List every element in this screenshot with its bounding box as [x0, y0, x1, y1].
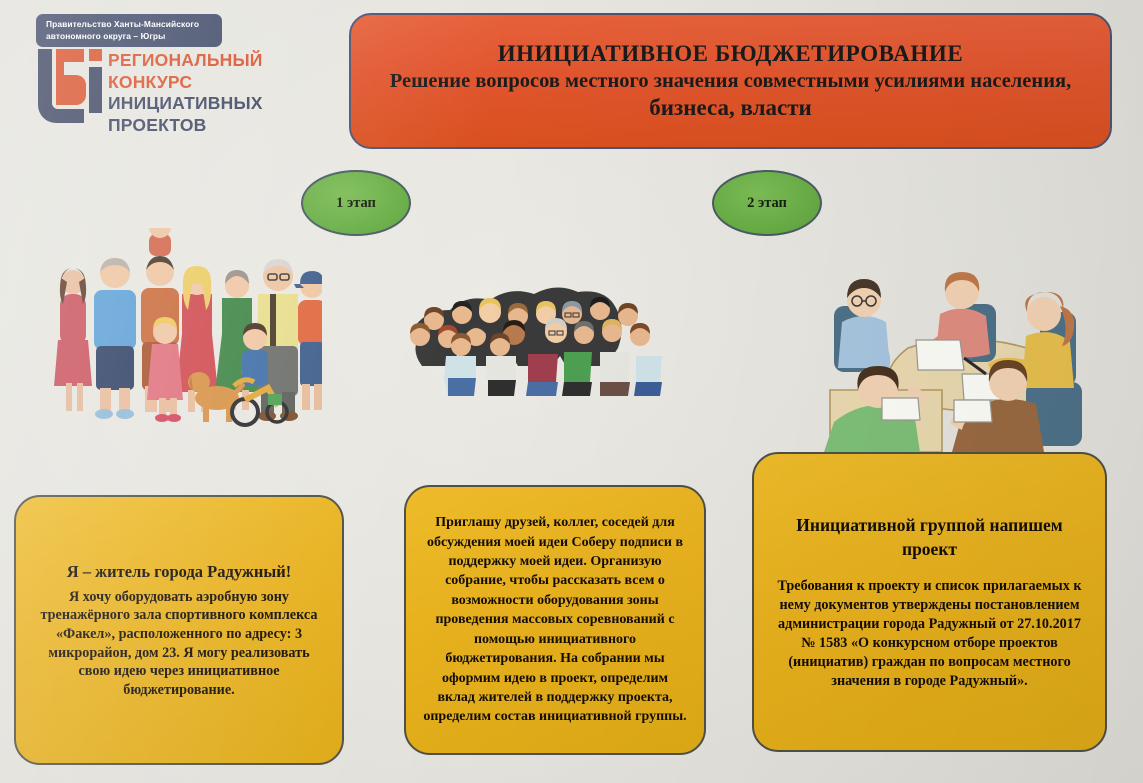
audience-crowd-illustration [404, 282, 666, 397]
card-stage1-resident: Я – житель города Радужный! Я хочу обору… [14, 495, 344, 765]
logo-word-regionalny: РЕГИОНАЛЬНЫЙ [108, 50, 263, 72]
stage-badge-1: 1 этап [301, 170, 411, 236]
government-badge-line2: автономного округа – Югры [46, 30, 214, 42]
card-stage1-meeting: Приглашу друзей, коллег, соседей для обс… [404, 485, 706, 755]
logo-word-konkurs: КОНКУРС [108, 72, 263, 94]
logo-word-initsiativnyh: ИНИЦИАТИВНЫХ [108, 93, 263, 115]
card3-body: Требования к проекту и список прилагаемы… [770, 577, 1089, 691]
card1-heading: Я – житель города Радужный! [32, 561, 326, 582]
banner-subtitle-continued: бизнеса, власти [649, 95, 812, 121]
government-badge-line1: Правительство Ханты-Мансийского [46, 18, 214, 30]
stage-badge-2: 2 этап [712, 170, 822, 236]
logo-word-proektov: ПРОЕКТОВ [108, 115, 263, 137]
card1-body: Я хочу оборудовать аэробную зону тренажё… [32, 588, 326, 700]
card3-heading: Инициативной группой напишем проект [770, 513, 1089, 561]
logo-block: Правительство Ханты-Мансийского автономн… [24, 14, 274, 144]
working-group-meeting-illustration [812, 262, 1102, 452]
logo-wordmark: РЕГИОНАЛЬНЫЙ КОНКУРС ИНИЦИАТИВНЫХ ПРОЕКТ… [108, 50, 263, 136]
banner-title: ИНИЦИАТИВНОЕ БЮДЖЕТИРОВАНИЕ [498, 41, 964, 67]
stage-badge-1-label: 1 этап [336, 195, 376, 212]
stage-badge-2-label: 2 этап [747, 195, 787, 212]
banner-subtitle: Решение вопросов местного значения совме… [390, 70, 1072, 93]
card-stage2-project: Инициативной группой напишем проект Треб… [752, 452, 1107, 752]
government-badge: Правительство Ханты-Мансийского автономн… [36, 14, 222, 47]
residents-group-illustration [46, 228, 322, 433]
title-banner: ИНИЦИАТИВНОЕ БЮДЖЕТИРОВАНИЕ Решение вопр… [349, 13, 1112, 149]
card2-body: Приглашу друзей, коллег, соседей для обс… [422, 513, 688, 726]
logo-mark-icon [32, 45, 104, 123]
poster-canvas: Правительство Ханты-Мансийского автономн… [0, 0, 1143, 783]
